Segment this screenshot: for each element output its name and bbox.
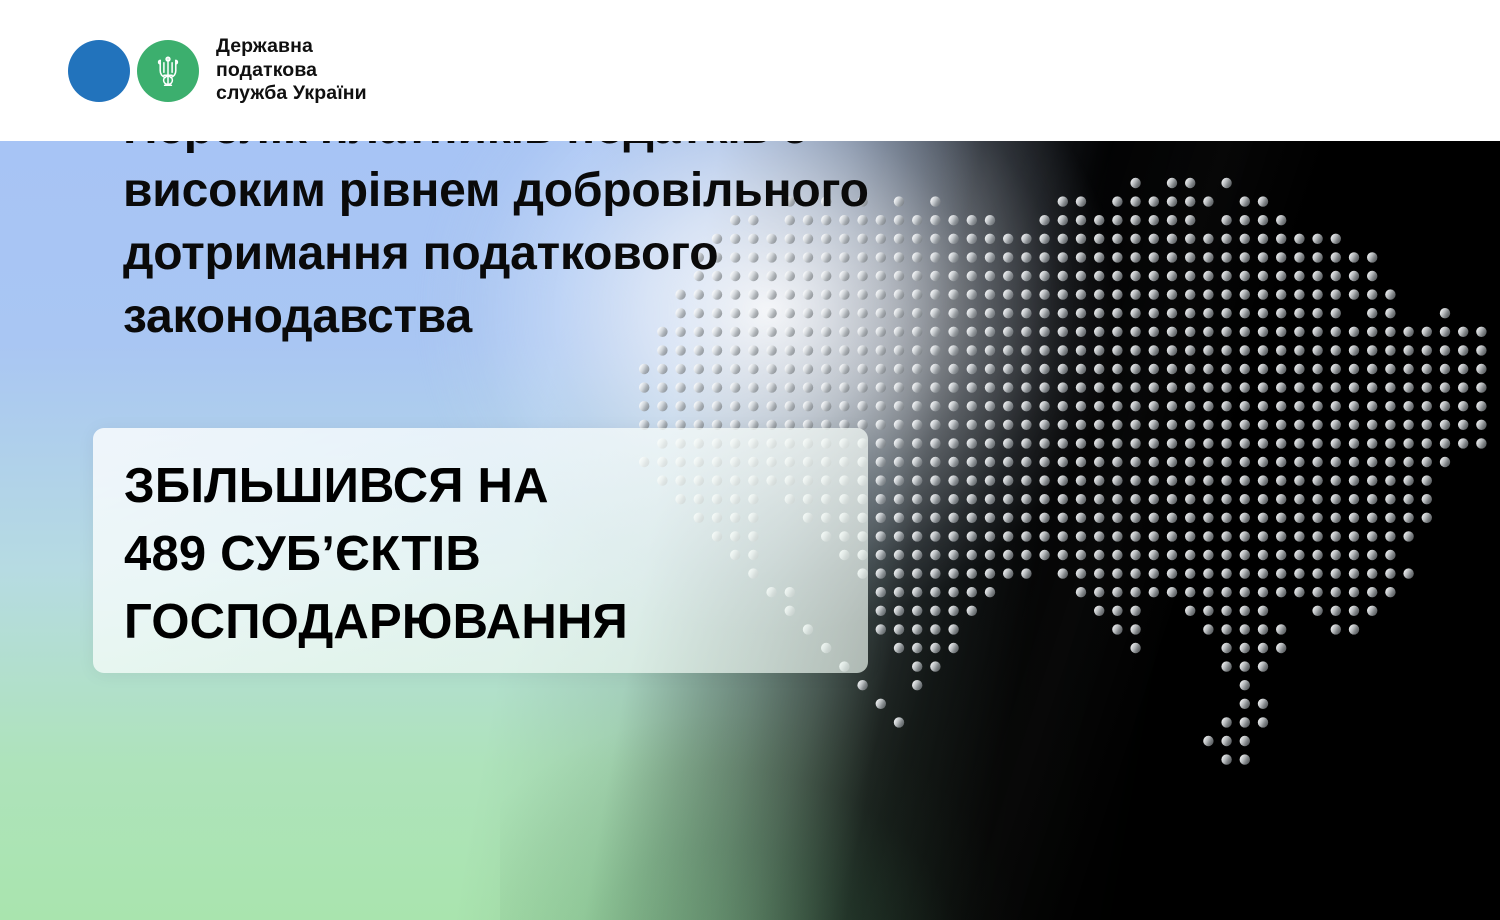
highlight-statement: ЗБІЛЬШИВСЯ НА 489 СУБ’ЄКТІВ ГОСПОДАРЮВАН… <box>124 452 854 656</box>
green-circle-icon <box>137 40 199 102</box>
organization-logo: Державна податкова служба України <box>68 35 367 106</box>
ukraine-trident-icon <box>155 54 181 88</box>
organization-name: Державна податкова служба України <box>216 35 367 106</box>
blue-circle-icon <box>68 40 130 102</box>
page-header: Державна податкова служба України <box>0 0 1500 141</box>
logo-marks <box>68 40 203 102</box>
poster: Державна податкова служба України <box>0 0 1500 920</box>
